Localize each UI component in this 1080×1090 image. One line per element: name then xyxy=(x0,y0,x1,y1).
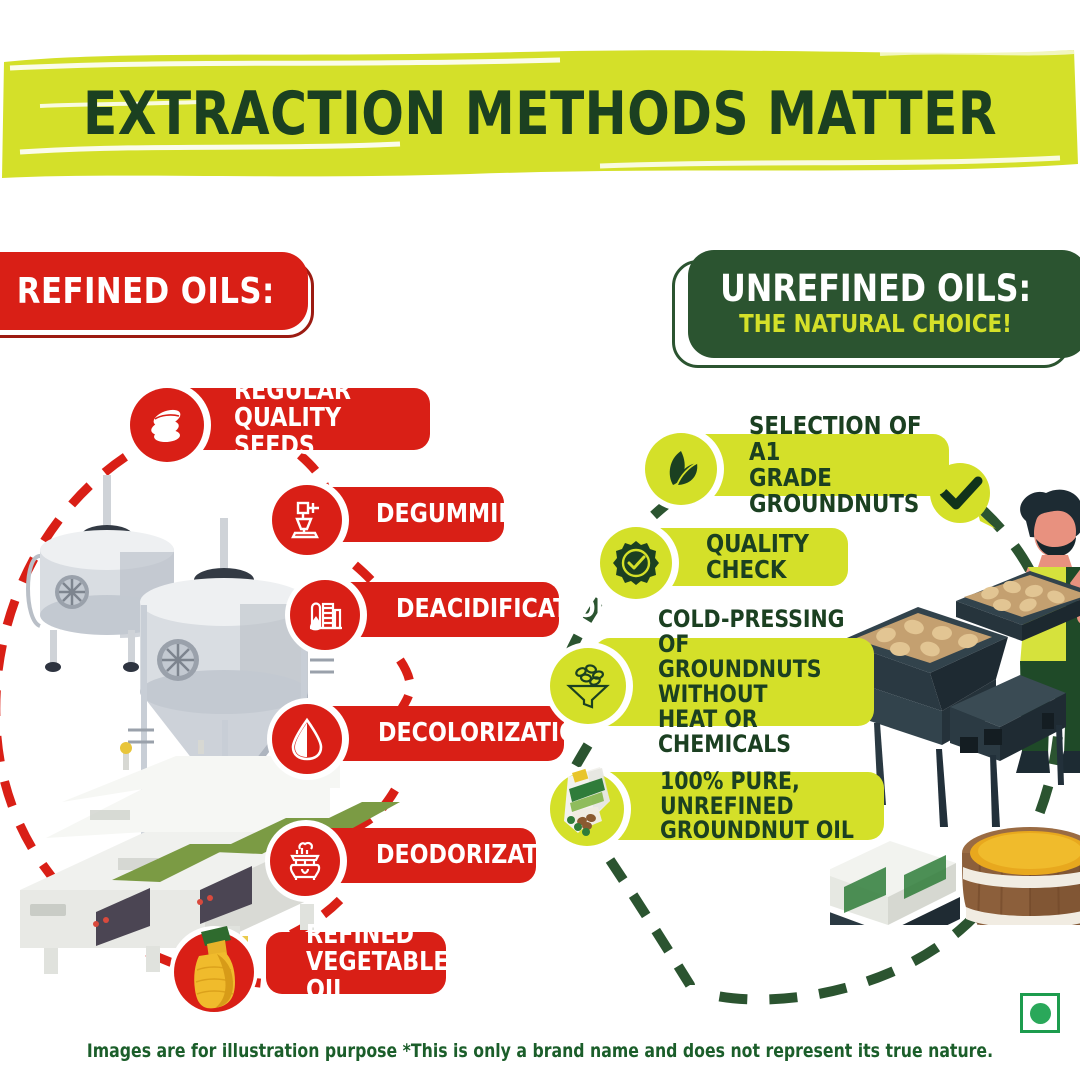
oil-bottle-icon xyxy=(174,932,254,1012)
step-label: SELECTION OF A1 GRADE GROUNDNUTS xyxy=(749,413,939,517)
step-label: COLD-PRESSING OF GROUNDNUTS WITHOUT HEAT… xyxy=(658,607,863,757)
unrefined-header-fill: UNREFINED OILS: THE NATURAL CHOICE! xyxy=(688,250,1080,358)
step-label: DEGUMMING xyxy=(376,501,535,528)
step-label: DEACIDIFICATION xyxy=(396,596,614,623)
step-label: DEODORIZATION xyxy=(376,842,584,869)
mixer-icon xyxy=(272,485,342,555)
step-label: REFINED VEGETABLE OIL xyxy=(306,922,449,1003)
leaves-icon xyxy=(645,433,717,505)
unrefined-oils-header: UNREFINED OILS: THE NATURAL CHOICE! xyxy=(680,250,1080,362)
unrefined-header-sublabel: THE NATURAL CHOICE! xyxy=(740,310,1013,338)
steam-pot-icon xyxy=(270,826,340,896)
seeds-icon xyxy=(130,388,204,462)
step-pill: REGULAR QUALITY SEEDS xyxy=(174,388,430,450)
vegetarian-mark-icon xyxy=(1020,993,1060,1033)
funnel-seeds-icon xyxy=(550,648,626,724)
oil-barrel xyxy=(962,827,1080,925)
packaging-crates xyxy=(830,841,960,925)
unrefined-header-label: UNREFINED OILS: xyxy=(720,270,1031,308)
footer-note: Images are for illustration purpose *Thi… xyxy=(43,1040,1037,1062)
step-label: 100% PURE, UNREFINED GROUNDNUT OIL xyxy=(660,769,873,844)
step-label: REGULAR QUALITY SEEDS xyxy=(234,378,420,459)
quality-seal-icon xyxy=(600,527,672,599)
infographic-canvas: EXTRACTION METHODS MATTER xyxy=(0,0,1080,1080)
step-label: DECOLORIZATION xyxy=(378,720,597,747)
refined-header-fill: REFINED OILS: xyxy=(0,252,308,330)
droplet-icon xyxy=(272,704,342,774)
refinery-icon xyxy=(290,580,360,650)
refined-header-label: REFINED OILS: xyxy=(17,271,275,312)
refined-oils-header: REFINED OILS: xyxy=(0,252,310,330)
oil-tin-icon xyxy=(550,772,624,846)
step-label: QUALITY CHECK xyxy=(706,531,841,583)
